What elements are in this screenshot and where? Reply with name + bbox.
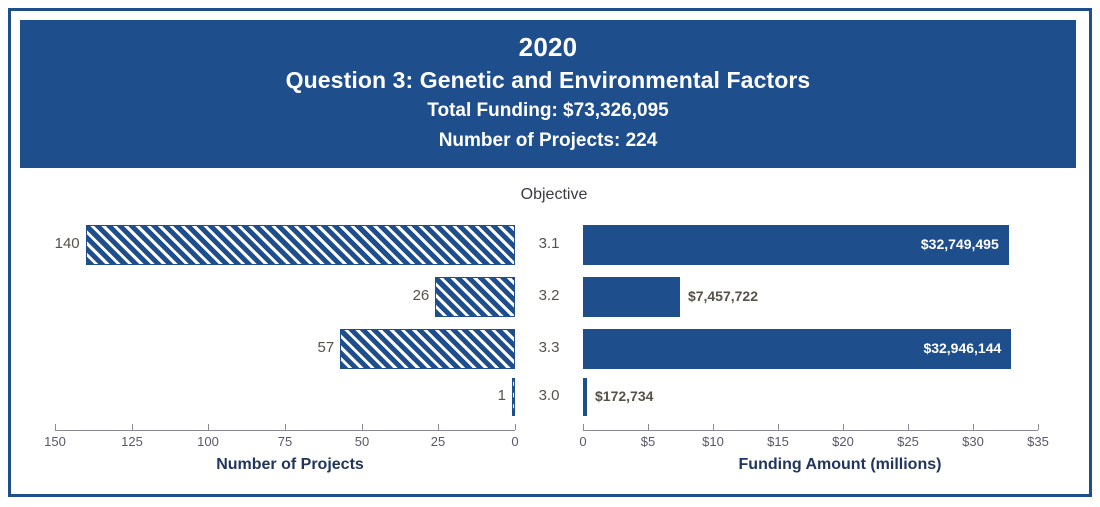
funding-bar[interactable] (583, 378, 587, 416)
header-year: 2020 (20, 30, 1076, 64)
left-axis-tick (438, 424, 439, 430)
right-axis-tick (648, 424, 649, 430)
header-total-funding: Total Funding: $73,326,095 (20, 96, 1076, 126)
right-axis-tick (843, 424, 844, 430)
right-axis-tick-label: $15 (755, 434, 801, 449)
left-axis-tick (55, 424, 56, 430)
objective-label: 3.3 (519, 339, 579, 356)
right-axis-tick-label: $25 (885, 434, 931, 449)
left-axis-tick (208, 424, 209, 430)
right-axis-line (583, 430, 1038, 431)
right-axis-tick-label: $20 (820, 434, 866, 449)
funding-value-label: $7,457,722 (688, 288, 758, 304)
projects-value-label: 1 (446, 387, 506, 404)
objective-label: 3.2 (519, 287, 579, 304)
projects-value-label: 57 (274, 339, 334, 356)
header-question-title: Question 3: Genetic and Environmental Fa… (20, 64, 1076, 96)
funding-value-label: $172,734 (595, 388, 653, 404)
objective-column-header: Objective (474, 186, 634, 204)
right-axis-tick (713, 424, 714, 430)
right-axis-tick-label: $10 (690, 434, 736, 449)
left-axis-title: Number of Projects (165, 456, 415, 474)
left-axis-tick (515, 424, 516, 430)
chart-page: 2020 Question 3: Genetic and Environment… (0, 0, 1100, 507)
projects-value-label: 26 (369, 287, 429, 304)
left-axis-tick-label: 0 (492, 434, 538, 449)
left-axis-tick-label: 75 (262, 434, 308, 449)
right-axis-tick-label: 0 (560, 434, 606, 449)
funding-value-label: $32,946,144 (583, 340, 1001, 356)
right-axis-tick (973, 424, 974, 430)
left-axis-tick-label: 25 (415, 434, 461, 449)
left-axis-tick-label: 125 (109, 434, 155, 449)
left-axis-tick (285, 424, 286, 430)
projects-bar[interactable] (435, 277, 515, 317)
right-axis-tick-label: $35 (1015, 434, 1061, 449)
header-number-projects: Number of Projects: 224 (20, 126, 1076, 156)
funding-value-label: $32,749,495 (583, 236, 999, 252)
objective-label: 3.0 (519, 387, 579, 404)
right-axis-tick (583, 424, 584, 430)
left-axis-line (55, 430, 515, 431)
left-axis-tick (362, 424, 363, 430)
left-axis-tick-label: 150 (32, 434, 78, 449)
projects-bar[interactable] (86, 225, 515, 265)
left-axis-tick-label: 50 (339, 434, 385, 449)
chart-header-panel: 2020 Question 3: Genetic and Environment… (20, 20, 1076, 168)
right-axis-tick (908, 424, 909, 430)
objective-label: 3.1 (519, 235, 579, 252)
right-axis-tick-label: $5 (625, 434, 671, 449)
right-axis-tick (1038, 424, 1039, 430)
right-axis-tick-label: $30 (950, 434, 996, 449)
projects-bar[interactable] (512, 378, 515, 416)
projects-value-label: 140 (20, 235, 80, 252)
left-axis-tick-label: 100 (185, 434, 231, 449)
funding-bar[interactable] (583, 277, 680, 317)
right-axis-title: Funding Amount (millions) (690, 456, 990, 474)
projects-bar[interactable] (340, 329, 515, 369)
right-axis-tick (778, 424, 779, 430)
diverging-bar-chart: Objective 1403.1$32,749,495263.2$7,457,7… (0, 168, 1100, 507)
left-axis-tick (132, 424, 133, 430)
